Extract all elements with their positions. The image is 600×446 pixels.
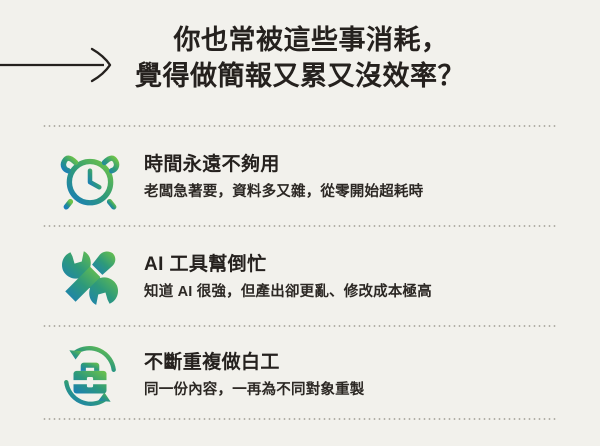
crossed-tools-icon — [42, 240, 138, 316]
title-line-2: 覺得做簡報又累又沒效率？ — [0, 58, 600, 94]
list-item: AI 工具幫倒忙 知道 AI 很強，但產出卻更亂、修改成本極高 — [42, 228, 558, 328]
page-title: 你也常被這些事消耗， 覺得做簡報又累又沒效率？ — [0, 22, 600, 94]
slide-canvas: 你也常被這些事消耗， 覺得做簡報又累又沒效率？ — [0, 0, 600, 446]
title-line-1: 你也常被這些事消耗， — [0, 22, 600, 58]
list-item-subtitle: 知道 AI 很強，但產出卻更亂、修改成本極高 — [144, 280, 432, 304]
list-item-text: 不斷重複做白工 同一份內容，一再為不同對象重製 — [138, 350, 365, 402]
list-item-text: 時間永遠不夠用 老闆急著要，資料多又雜，從零開始超耗時 — [138, 152, 423, 204]
list-item-subtitle: 同一份內容，一再為不同對象重製 — [144, 378, 365, 402]
list-item: 不斷重複做白工 同一份內容，一再為不同對象重製 — [42, 326, 558, 426]
list-item-subtitle: 老闆急著要，資料多又雜，從零開始超耗時 — [144, 180, 423, 204]
list-item-title: AI 工具幫倒忙 — [144, 252, 432, 277]
list-item: 時間永遠不夠用 老闆急著要，資料多又雜，從零開始超耗時 — [42, 128, 558, 228]
briefcase-refresh-icon — [42, 338, 138, 414]
list-item-text: AI 工具幫倒忙 知道 AI 很強，但產出卻更亂、修改成本極高 — [138, 252, 432, 304]
header: 你也常被這些事消耗， 覺得做簡報又累又沒效率？ — [0, 0, 600, 118]
alarm-clock-icon — [42, 140, 138, 216]
list-item-title: 不斷重複做白工 — [144, 350, 365, 375]
list-item-title: 時間永遠不夠用 — [144, 152, 423, 177]
divider-top — [42, 125, 558, 127]
